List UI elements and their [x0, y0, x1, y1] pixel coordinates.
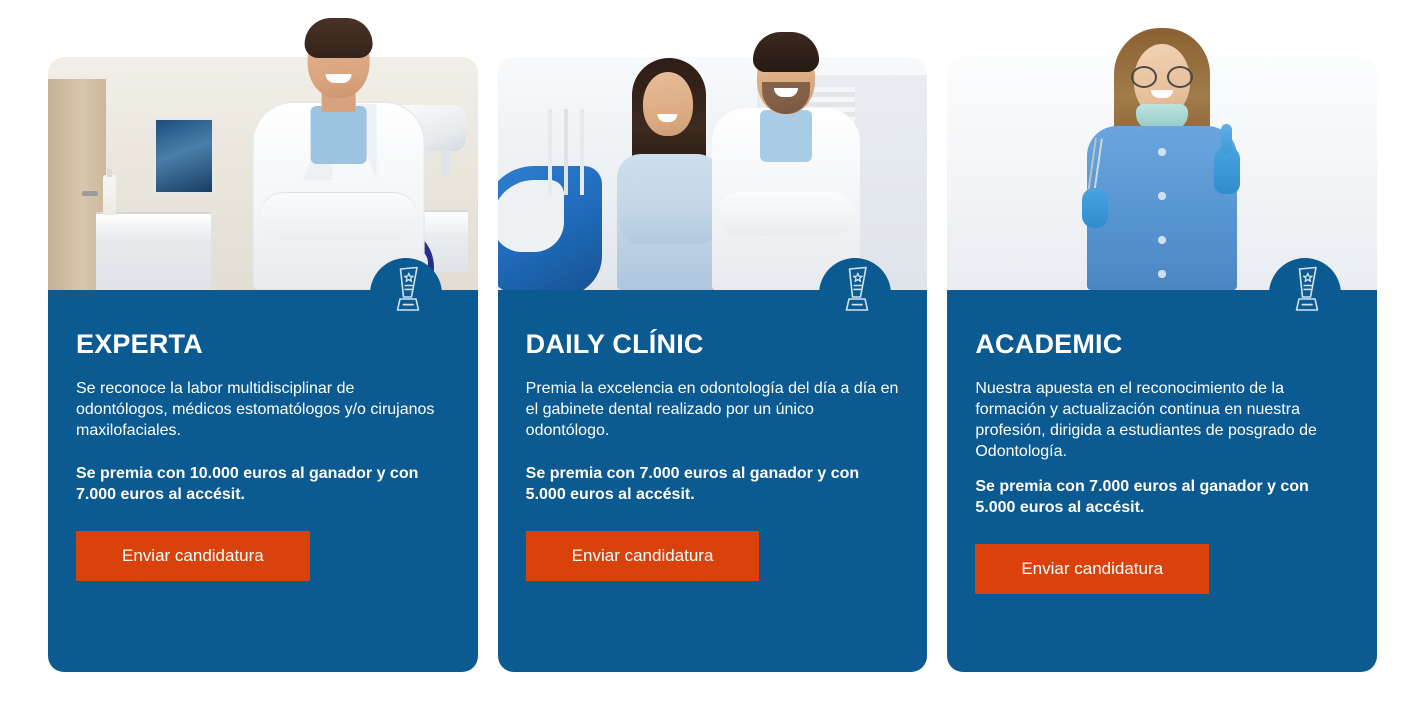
dress-shirt [760, 110, 812, 162]
card-description: Premia la excelencia en odontología del … [526, 378, 900, 441]
eyeglasses-icon [1131, 66, 1193, 84]
award-card-daily-clinic: DAILY CLÍNIC Premia la excelencia en odo… [498, 57, 928, 672]
card-description: Se reconoce la labor multidisciplinar de… [76, 378, 450, 441]
xray-monitor-decor [153, 117, 215, 195]
send-application-button[interactable]: Enviar candidatura [76, 531, 310, 581]
card-title: ACADEMIC [975, 330, 1349, 360]
card-photo-experta [48, 57, 478, 290]
counter-left-decor [96, 212, 211, 290]
send-application-button[interactable]: Enviar candidatura [975, 544, 1209, 594]
card-title: DAILY CLÍNIC [526, 330, 900, 360]
dentist-portrait-male [704, 32, 869, 290]
bottle-decor [103, 175, 116, 215]
pointing-finger [1221, 124, 1232, 154]
cta-wrapper: Enviar candidatura [526, 531, 900, 581]
crossed-arms [717, 192, 855, 236]
card-body-experta: EXPERTA Se reconoce la labor multidiscip… [48, 290, 478, 672]
trophy-icon [1288, 266, 1322, 314]
card-prize: Se premia con 10.000 euros al ganador y … [76, 463, 450, 505]
card-photo-daily-clinic [498, 57, 928, 290]
dentist-portrait-male [233, 22, 443, 290]
scrub-buttons [1158, 146, 1167, 278]
hair [753, 32, 819, 72]
cta-wrapper: Enviar candidatura [76, 531, 450, 581]
send-application-button[interactable]: Enviar candidatura [526, 531, 760, 581]
card-photo-academic [947, 57, 1377, 290]
dentist-portrait-female [1062, 28, 1262, 290]
card-body-academic: ACADEMIC Nuestra apuesta en el reconocim… [947, 290, 1377, 672]
awards-card-grid: EXPERTA Se reconoce la labor multidiscip… [0, 0, 1413, 705]
crossed-arms [259, 192, 417, 240]
award-card-experta: EXPERTA Se reconoce la labor multidiscip… [48, 57, 478, 672]
glove-left [1082, 188, 1108, 228]
card-title: EXPERTA [76, 330, 450, 360]
hair [304, 18, 372, 58]
trophy-icon [389, 266, 423, 314]
card-prize: Se premia con 7.000 euros al ganador y c… [975, 476, 1349, 518]
cta-wrapper: Enviar candidatura [975, 544, 1349, 594]
card-description: Nuestra apuesta en el reconocimiento de … [975, 378, 1349, 462]
trophy-icon [838, 266, 872, 314]
award-card-academic: ACADEMIC Nuestra apuesta en el reconocim… [947, 57, 1377, 672]
equipment-tubes-decor [540, 109, 598, 195]
card-body-daily-clinic: DAILY CLÍNIC Premia la excelencia en odo… [498, 290, 928, 672]
card-prize: Se premia con 7.000 euros al ganador y c… [526, 463, 900, 505]
head [643, 72, 693, 136]
dress-shirt [310, 106, 366, 164]
